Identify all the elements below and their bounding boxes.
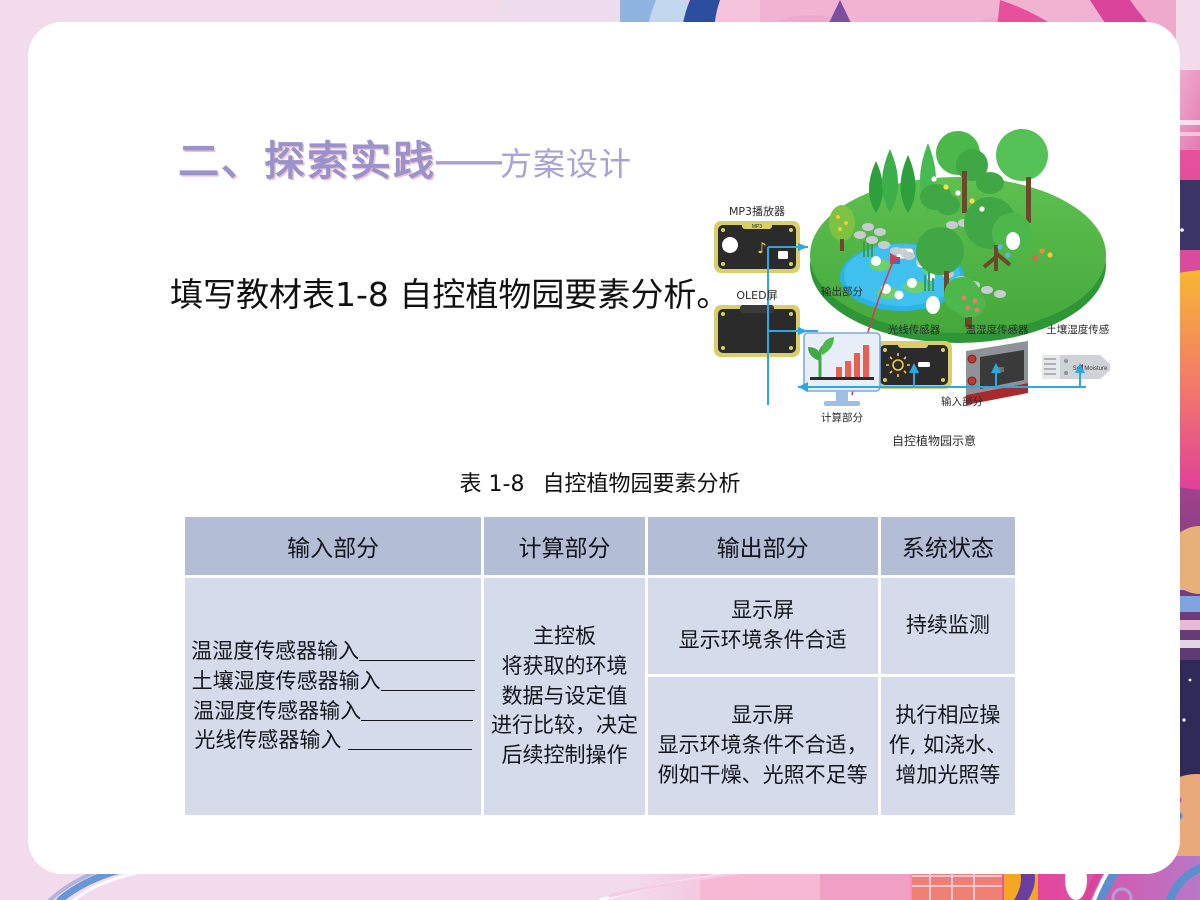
table-row: 温湿度传感器输入 土壤湿度传感器输入 温湿度传感器输入 光线传感器输入 主控板 … — [185, 578, 1015, 674]
input-line: 温湿度传感器输入 — [189, 637, 477, 667]
monitor-compute — [804, 333, 880, 406]
page-title-main: 二、探索实践 — [178, 138, 436, 184]
garden-island — [810, 129, 1106, 343]
column-header-compute: 计算部分 — [484, 517, 644, 575]
page-title-dash: —— — [436, 142, 500, 180]
table-caption-title: 自控植物园要素分析 — [542, 472, 740, 497]
diagram-art: MP3 ♪ — [690, 105, 1110, 465]
cell-state-abnormal: 执行相应操 作, 如浇水、 增加光照等 — [881, 677, 1015, 815]
input-line: 光线传感器输入 — [189, 726, 477, 756]
state-line: 作, 如浇水、 — [885, 731, 1011, 761]
plant-garden-diagram: MP3 ♪ — [690, 105, 1110, 465]
column-header-input: 输入部分 — [185, 517, 481, 575]
table-caption-label: 表 1-8 — [460, 472, 525, 497]
input-line-text: 温湿度传感器输入 — [191, 639, 359, 663]
cell-input-list[interactable]: 温湿度传感器输入 土壤湿度传感器输入 温湿度传感器输入 光线传感器输入 — [185, 578, 481, 815]
analysis-table-wrap: 输入部分 计算部分 输出部分 系统状态 温湿度传感器输入 土壤湿度传感器输入 温… — [182, 514, 1018, 818]
lead-instruction: 填写教材表1-8 自控植物园要素分析。 — [170, 268, 729, 316]
fill-in-blank[interactable] — [359, 646, 475, 661]
diagram-caption: 自控植物园示意 — [892, 433, 976, 448]
output-line: 显示环境条件合适 — [652, 626, 874, 656]
state-line: 持续监测 — [885, 611, 1011, 641]
table-header-row: 输入部分 计算部分 输出部分 系统状态 — [185, 517, 1015, 575]
fill-in-blank[interactable] — [381, 676, 475, 691]
cell-state-normal: 持续监测 — [881, 578, 1015, 674]
table-caption: 表 1-8自控植物园要素分析 — [0, 466, 1200, 498]
oled-label: OLED屏 — [736, 289, 777, 302]
compute-line: 进行比较，决定 — [488, 711, 640, 741]
cell-compute: 主控板 将获取的环境 数据与设定值 进行比较，决定 后续控制操作 — [484, 578, 644, 815]
analysis-table: 输入部分 计算部分 输出部分 系统状态 温湿度传感器输入 土壤湿度传感器输入 温… — [182, 514, 1018, 818]
compute-line: 数据与设定值 — [488, 682, 640, 712]
temp-humidity-sensor-label: 温湿度传感器 — [966, 323, 1029, 336]
light-sensor-label: 光线传感器 — [888, 323, 941, 336]
soil-sensor-label: 土壤湿度传感器 — [1046, 323, 1110, 336]
fill-in-blank[interactable] — [348, 735, 472, 750]
svg-text:♪: ♪ — [757, 239, 767, 257]
mp3-label: MP3播放器 — [729, 204, 785, 218]
output-line: 显示屏 — [652, 701, 874, 731]
column-header-state: 系统状态 — [881, 517, 1015, 575]
output-line: 显示环境条件不合适， — [652, 731, 874, 761]
soil-moisture-sensor-module: Soil Moisture — [1042, 355, 1110, 379]
input-line-text: 光线传感器输入 — [194, 728, 348, 752]
output-line: 显示屏 — [652, 596, 874, 626]
compute-line: 后续控制操作 — [488, 741, 640, 771]
fill-in-blank[interactable] — [361, 706, 473, 721]
mp3-chip-label: MP3 — [752, 224, 763, 230]
page-title: 二、探索实践——方案设计 — [178, 141, 632, 182]
state-line: 增加光照等 — [885, 761, 1011, 791]
state-line: 执行相应操 — [885, 701, 1011, 731]
cell-output-abnormal: 显示屏 显示环境条件不合适， 例如干燥、光照不足等 — [648, 677, 878, 815]
input-line-text: 温湿度传感器输入 — [193, 699, 361, 723]
cell-output-normal: 显示屏 显示环境条件合适 — [648, 578, 878, 674]
compute-line: 将获取的环境 — [488, 652, 640, 682]
input-line-text: 土壤湿度传感器输入 — [192, 669, 381, 693]
compute-part-label: 计算部分 — [821, 411, 863, 424]
input-line: 土壤湿度传感器输入 — [189, 667, 477, 697]
input-line: 温湿度传感器输入 — [189, 697, 477, 727]
compute-line: 主控板 — [488, 622, 640, 652]
slide-stage: 二、探索实践——方案设计 填写教材表1-8 自控植物园要素分析。 — [0, 0, 1200, 900]
input-part-label: 输入部分 — [941, 395, 983, 408]
column-header-output: 输出部分 — [648, 517, 878, 575]
output-line: 例如干燥、光照不足等 — [652, 761, 874, 791]
page-title-sub: 方案设计 — [500, 146, 632, 182]
output-part-label: 输出部分 — [821, 285, 863, 298]
